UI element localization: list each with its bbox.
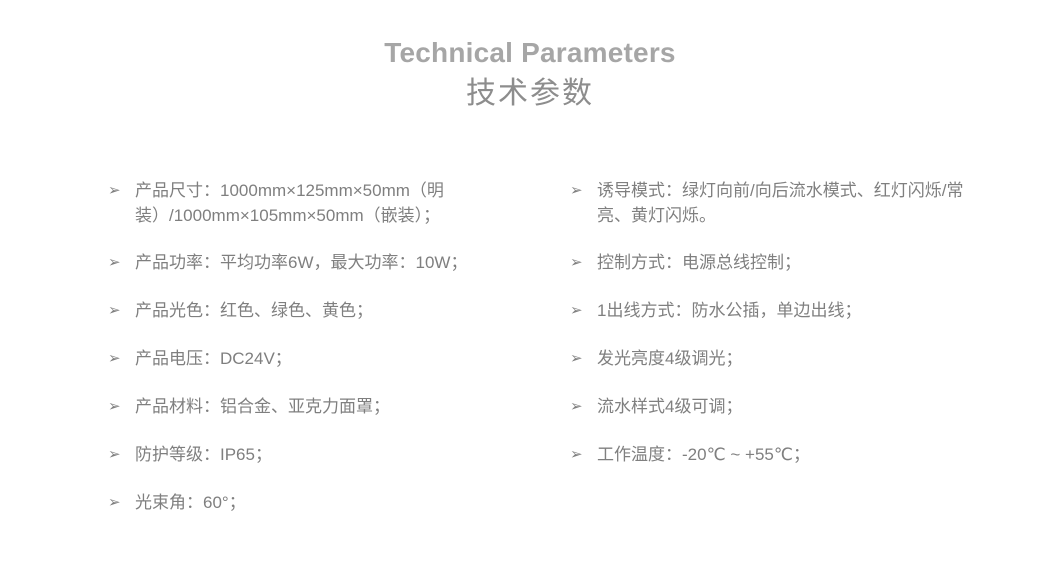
spec-item-text: 发光亮度4级调光； xyxy=(597,346,967,371)
arrow-bullet-icon: ➢ xyxy=(108,250,135,275)
page-title-chinese: 技术参数 xyxy=(0,74,1060,114)
arrow-bullet-icon: ➢ xyxy=(108,394,135,419)
spec-item-light-color: ➢ 产品光色：红色、绿色、黄色； xyxy=(108,298,568,346)
page-header: Technical Parameters 技术参数 xyxy=(0,36,1060,114)
spec-item-wiring-method: ➢ 1出线方式：防水公插，单边出线； xyxy=(570,298,1000,346)
spec-item-voltage: ➢ 产品电压：DC24V； xyxy=(108,346,568,394)
arrow-bullet-icon: ➢ xyxy=(108,490,135,515)
spec-item-text: 产品材料：铝合金、亚克力面罩； xyxy=(135,394,535,419)
spec-item-beam-angle: ➢ 光束角：60°； xyxy=(108,490,568,538)
spec-item-material: ➢ 产品材料：铝合金、亚克力面罩； xyxy=(108,394,568,442)
arrow-bullet-icon: ➢ xyxy=(570,178,597,203)
spec-item-product-size: ➢ 产品尺寸：1000mm×125mm×50mm（明装）/1000mm×105m… xyxy=(108,178,568,250)
spec-item-text: 产品尺寸：1000mm×125mm×50mm（明装）/1000mm×105mm×… xyxy=(135,178,535,228)
arrow-bullet-icon: ➢ xyxy=(108,298,135,323)
spec-item-text: 防护等级：IP65； xyxy=(135,442,535,467)
arrow-bullet-icon: ➢ xyxy=(570,442,597,467)
spec-column-left: ➢ 产品尺寸：1000mm×125mm×50mm（明装）/1000mm×105m… xyxy=(108,178,568,538)
spec-item-guidance-mode: ➢ 诱导模式：绿灯向前/向后流水模式、红灯闪烁/常亮、黄灯闪烁。 xyxy=(570,178,1000,250)
spec-item-control-method: ➢ 控制方式：电源总线控制； xyxy=(570,250,1000,298)
technical-parameters-page: Technical Parameters 技术参数 ➢ 产品尺寸：1000mm×… xyxy=(0,0,1060,564)
spec-item-text: 产品光色：红色、绿色、黄色； xyxy=(135,298,535,323)
spec-item-product-power: ➢ 产品功率：平均功率6W，最大功率：10W； xyxy=(108,250,568,298)
spec-item-text: 流水样式4级可调； xyxy=(597,394,967,419)
spec-item-text: 产品电压：DC24V； xyxy=(135,346,535,371)
spec-item-text: 产品功率：平均功率6W，最大功率：10W； xyxy=(135,250,535,275)
arrow-bullet-icon: ➢ xyxy=(570,298,597,323)
arrow-bullet-icon: ➢ xyxy=(570,250,597,275)
spec-item-text: 控制方式：电源总线控制； xyxy=(597,250,967,275)
arrow-bullet-icon: ➢ xyxy=(108,178,135,203)
spec-item-working-temperature: ➢ 工作温度：-20℃ ~ +55℃； xyxy=(570,442,1000,490)
spec-item-text: 光束角：60°； xyxy=(135,490,535,515)
page-title-english: Technical Parameters xyxy=(0,36,1060,70)
spec-item-text: 1出线方式：防水公插，单边出线； xyxy=(597,298,967,323)
arrow-bullet-icon: ➢ xyxy=(570,346,597,371)
spec-item-brightness-dimming: ➢ 发光亮度4级调光； xyxy=(570,346,1000,394)
spec-item-flow-pattern: ➢ 流水样式4级可调； xyxy=(570,394,1000,442)
spec-item-ip-rating: ➢ 防护等级：IP65； xyxy=(108,442,568,490)
arrow-bullet-icon: ➢ xyxy=(108,442,135,467)
arrow-bullet-icon: ➢ xyxy=(570,394,597,419)
arrow-bullet-icon: ➢ xyxy=(108,346,135,371)
specification-list: ➢ 产品尺寸：1000mm×125mm×50mm（明装）/1000mm×105m… xyxy=(0,178,1060,538)
spec-item-text: 工作温度：-20℃ ~ +55℃； xyxy=(597,442,967,467)
spec-column-right: ➢ 诱导模式：绿灯向前/向后流水模式、红灯闪烁/常亮、黄灯闪烁。 ➢ 控制方式：… xyxy=(570,178,1000,490)
spec-item-text: 诱导模式：绿灯向前/向后流水模式、红灯闪烁/常亮、黄灯闪烁。 xyxy=(597,178,967,228)
